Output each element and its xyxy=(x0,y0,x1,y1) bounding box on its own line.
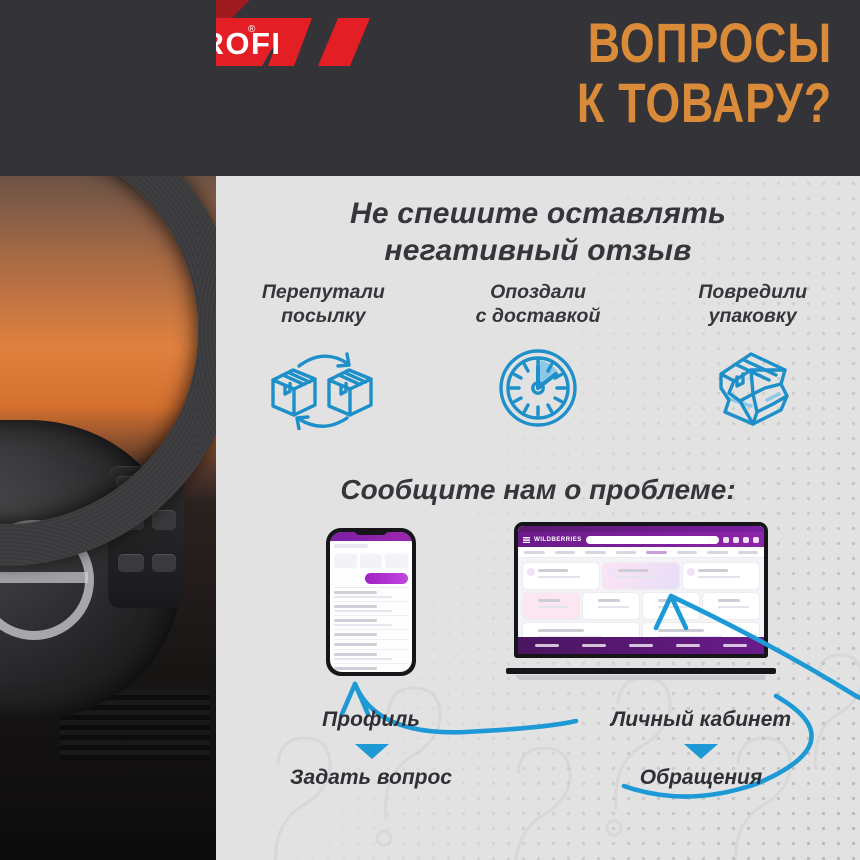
page-title-line-1: ВОПРОСЫ xyxy=(496,16,832,70)
arrow-down-icon xyxy=(355,744,389,759)
location-icon xyxy=(723,537,729,543)
step-label-ask-question: Задать вопрос xyxy=(236,766,506,790)
card-favorite-brands[interactable] xyxy=(703,593,759,619)
infographic-root: AUTOPROFI ® ВОПРОСЫ К ТОВАРУ? xyxy=(0,0,860,860)
card-deliveries[interactable] xyxy=(603,563,679,589)
product-photo xyxy=(0,0,216,860)
arrow-down-icon xyxy=(684,744,718,759)
reason-item-mixed-parcel: Перепутали посылку xyxy=(216,280,431,460)
search-input[interactable] xyxy=(586,536,719,544)
step-labels: Профиль Задать вопрос Личный кабинет Обр… xyxy=(216,708,860,828)
page-title-line-2: К ТОВАРУ? xyxy=(496,76,832,130)
main-heading-line-1: Не спешите оставлять xyxy=(350,197,726,230)
swap-boxes-icon xyxy=(265,345,381,431)
reason-label-line-2: упаковку xyxy=(709,305,797,327)
cart-icon xyxy=(753,537,759,543)
step-label-personal-cabinet: Личный кабинет xyxy=(556,708,846,732)
clock-icon xyxy=(495,345,581,431)
list-item[interactable] xyxy=(334,601,408,615)
orders-icon xyxy=(733,537,739,543)
phone-mockup xyxy=(326,528,416,676)
page-title: ВОПРОСЫ К ТОВАРУ? xyxy=(412,16,832,130)
header-red-slash-2 xyxy=(318,18,370,66)
photo-top-mask xyxy=(0,0,216,176)
main-panel: Не спешите оставлять негативный отзыв Пе… xyxy=(216,176,860,860)
reason-label-line-1: Перепутали xyxy=(262,281,385,303)
list-item[interactable] xyxy=(334,629,408,639)
reason-item-late-delivery: Опоздали с доставкой xyxy=(431,280,646,460)
device-mockups: WILDBERRIES xyxy=(216,528,860,698)
step-label-appeals: Обращения xyxy=(566,766,836,790)
damaged-box-icon xyxy=(707,345,799,431)
card-chat[interactable] xyxy=(643,593,699,619)
reason-label-line-1: Повредили xyxy=(698,281,807,303)
laptop-hinge xyxy=(506,668,776,674)
card-payment-methods[interactable] xyxy=(523,593,579,619)
phone-screen xyxy=(330,532,412,672)
hamburger-menu-icon[interactable] xyxy=(523,537,530,543)
tab-active xyxy=(646,551,667,554)
phone-stat-tiles xyxy=(330,552,412,570)
list-item-ask-question[interactable] xyxy=(334,649,408,663)
site-name: WILDBERRIES xyxy=(534,536,582,543)
list-item[interactable] xyxy=(334,663,408,672)
step-label-profile: Профиль xyxy=(256,708,486,732)
card-wallet[interactable] xyxy=(583,593,639,619)
phone-notch xyxy=(354,528,388,535)
account-nav-tabs[interactable] xyxy=(518,547,764,558)
list-item[interactable] xyxy=(334,615,408,629)
header-icon-row[interactable] xyxy=(723,537,759,543)
steering-wheel-emblem-bar xyxy=(0,572,88,583)
laptop-mockup: WILDBERRIES xyxy=(506,522,776,680)
phone-primary-button[interactable] xyxy=(365,573,408,584)
list-item[interactable] xyxy=(334,639,408,649)
reason-label: Перепутали посылку xyxy=(262,280,385,329)
reason-label-line-2: посылку xyxy=(281,305,365,327)
reason-label-line-2: с доставкой xyxy=(476,305,601,327)
main-heading: Не спешите оставлять негативный отзыв xyxy=(216,196,860,269)
card-purchases[interactable] xyxy=(683,563,759,589)
reason-label: Повредили упаковку xyxy=(698,280,807,329)
reasons-row: Перепутали посылку xyxy=(216,280,860,460)
site-header: WILDBERRIES xyxy=(518,532,764,547)
site-footer xyxy=(518,637,764,654)
registered-mark: ® xyxy=(248,24,255,35)
card-profile[interactable] xyxy=(523,563,599,589)
reason-label-line-1: Опоздали xyxy=(490,281,586,303)
list-item[interactable] xyxy=(334,587,408,601)
phone-app-header xyxy=(330,541,412,552)
main-heading-line-2: негативный отзыв xyxy=(384,234,691,267)
laptop-base xyxy=(516,675,766,680)
sub-heading: Сообщите нам о проблеме: xyxy=(216,474,860,506)
reason-label: Опоздали с доставкой xyxy=(476,280,601,329)
reason-item-damaged-package: Повредили упаковку xyxy=(645,280,860,460)
phone-menu-list xyxy=(330,587,412,672)
laptop-screen: WILDBERRIES xyxy=(514,522,768,658)
account-icon xyxy=(743,537,749,543)
